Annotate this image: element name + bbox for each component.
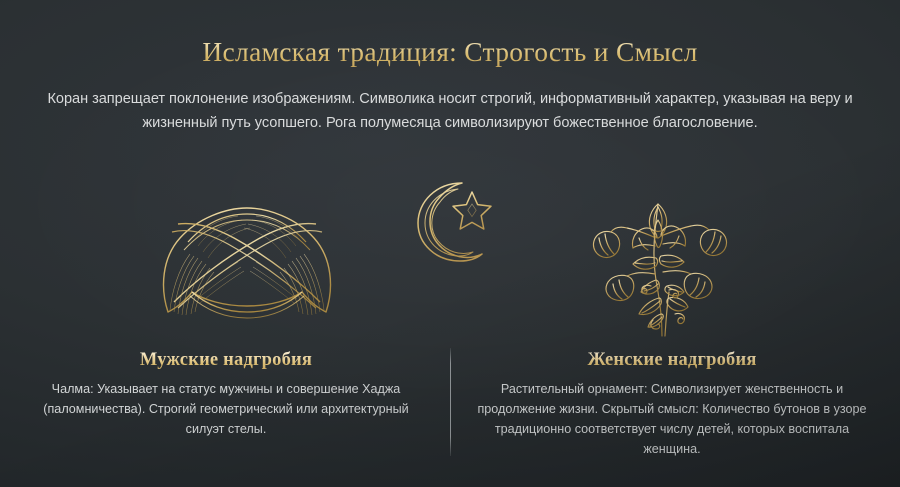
column-heading-female: Женские надгробия — [462, 350, 882, 371]
subtitle-text: Коран запрещает поклонение изображениям.… — [38, 88, 862, 135]
column-male-gravestones: Мужские надгробия Чалма: Указывает на ст… — [16, 350, 436, 440]
slide-root: Исламская традиция: Строгость и Смысл Ко… — [0, 0, 900, 487]
column-female-gravestones: Женские надгробия Растительный орнамент:… — [462, 350, 882, 460]
column-heading-male: Мужские надгробия — [16, 350, 436, 371]
floral-ornament-icon — [583, 186, 741, 338]
crescent-star-icon — [398, 176, 502, 264]
page-title: Исламская традиция: Строгость и Смысл — [0, 36, 900, 68]
column-divider — [450, 348, 451, 456]
column-body-male: Чалма: Указывает на статус мужчины и сов… — [16, 380, 436, 440]
column-body-female: Растительный орнамент: Символизирует жен… — [462, 380, 882, 460]
turban-icon — [150, 196, 344, 328]
